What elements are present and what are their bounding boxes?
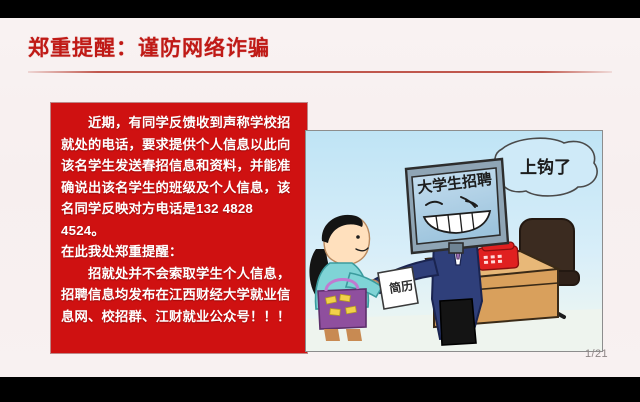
thought-bubble-label: 上钩了	[520, 157, 571, 178]
illustration-image: 上钩了	[305, 130, 603, 352]
video-player: 郑重提醒：谨防网络诈骗 近期，有同学反馈收到声称学校招就处的电话，要求提供个人信…	[0, 0, 640, 402]
page-title: 郑重提醒：谨防网络诈骗	[28, 32, 270, 62]
illustration-svg: 上钩了	[306, 131, 602, 351]
letterbox-bottom	[0, 377, 640, 402]
resume-paper: 简历	[378, 267, 418, 309]
title-divider	[28, 71, 612, 73]
notice-panel: 近期，有同学反馈收到声称学校招就处的电话，要求提供个人信息以此向该名学生发送春招…	[51, 103, 307, 353]
monitor-head: 大学生招聘	[406, 159, 508, 253]
page-indicator: 1/21	[585, 348, 608, 360]
letterbox-top	[0, 0, 640, 18]
notice-body-text: 近期，有同学反馈收到声称学校招就处的电话，要求提供个人信息以此向该名学生发送春招…	[61, 112, 299, 327]
presentation-slide: 郑重提醒：谨防网络诈骗 近期，有同学反馈收到声称学校招就处的电话，要求提供个人信…	[0, 18, 640, 377]
